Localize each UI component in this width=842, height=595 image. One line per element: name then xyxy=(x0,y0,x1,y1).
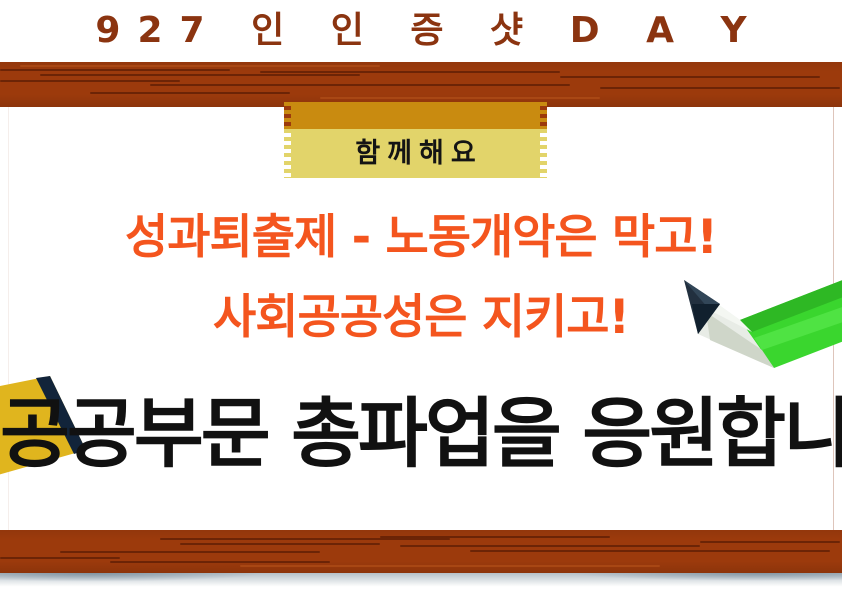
ribbon-scallop-right xyxy=(540,129,547,178)
ribbon-scallop-top-right xyxy=(540,102,547,129)
poster-canvas: 927 인 인 증 샷 D A Y 함께해요 xyxy=(0,0,842,595)
headline-red-line-2: 사회공공성은 지키고! xyxy=(0,294,842,341)
ribbon-label: 함께해요 xyxy=(348,140,482,167)
header-title: 927 인 인 증 샷 D A Y xyxy=(78,13,763,49)
ribbon-scallop-top-left xyxy=(284,102,291,129)
ribbon-upper-segment xyxy=(288,102,543,129)
wood-frame-bottom xyxy=(0,530,842,573)
ribbon-scallop-left xyxy=(284,129,291,178)
ribbon-banner: 함께해요 xyxy=(288,103,543,178)
plank-drop-shadow xyxy=(0,573,842,589)
headline-black-line: 공공부문 총파업을 응원합니다 xyxy=(0,396,842,472)
headline-red-line-1: 성과퇴출제 - 노동개악은 막고! xyxy=(0,214,842,261)
ribbon-lower-segment: 함께해요 xyxy=(288,129,543,178)
header-band: 927 인 인 증 샷 D A Y xyxy=(0,0,842,62)
wood-frame-top xyxy=(0,62,842,107)
